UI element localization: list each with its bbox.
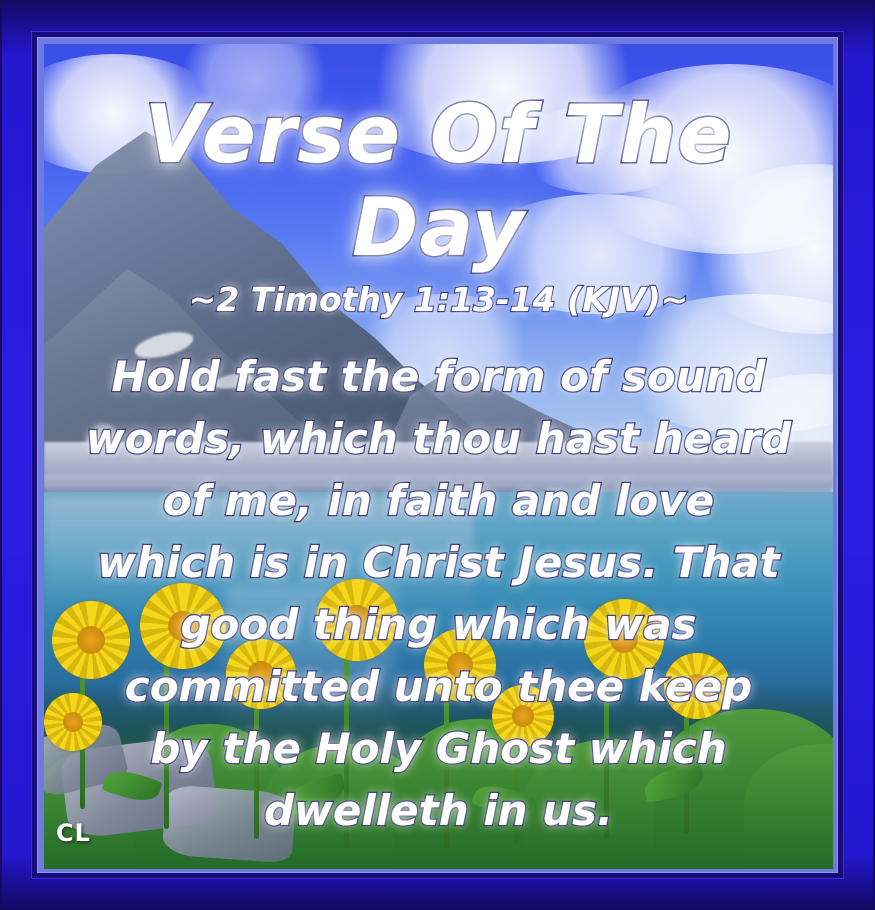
verse-line: words, which thou hast heard xyxy=(58,408,819,470)
watermark-initials: CL xyxy=(56,819,91,847)
page-title: Verse Of The Day xyxy=(44,88,833,274)
verse-line: Hold fast the form of sound xyxy=(58,346,819,408)
verse-line: good thing which was xyxy=(58,594,819,656)
verse-line: of me, in faith and love xyxy=(58,470,819,532)
verse-line: committed unto thee keep xyxy=(58,656,819,718)
scripture-reference: ~2 Timothy 1:13-14 (KJV)~ xyxy=(44,280,833,319)
verse-card-content: Verse Of The Day ~2 Timothy 1:13-14 (KJV… xyxy=(44,44,833,869)
verse-line: which is in Christ Jesus. That xyxy=(58,532,819,594)
verse-text: Hold fast the form of sound words, which… xyxy=(58,346,819,842)
verse-line: by the Holy Ghost which xyxy=(58,718,819,780)
verse-line: dwelleth in us. xyxy=(58,780,819,842)
